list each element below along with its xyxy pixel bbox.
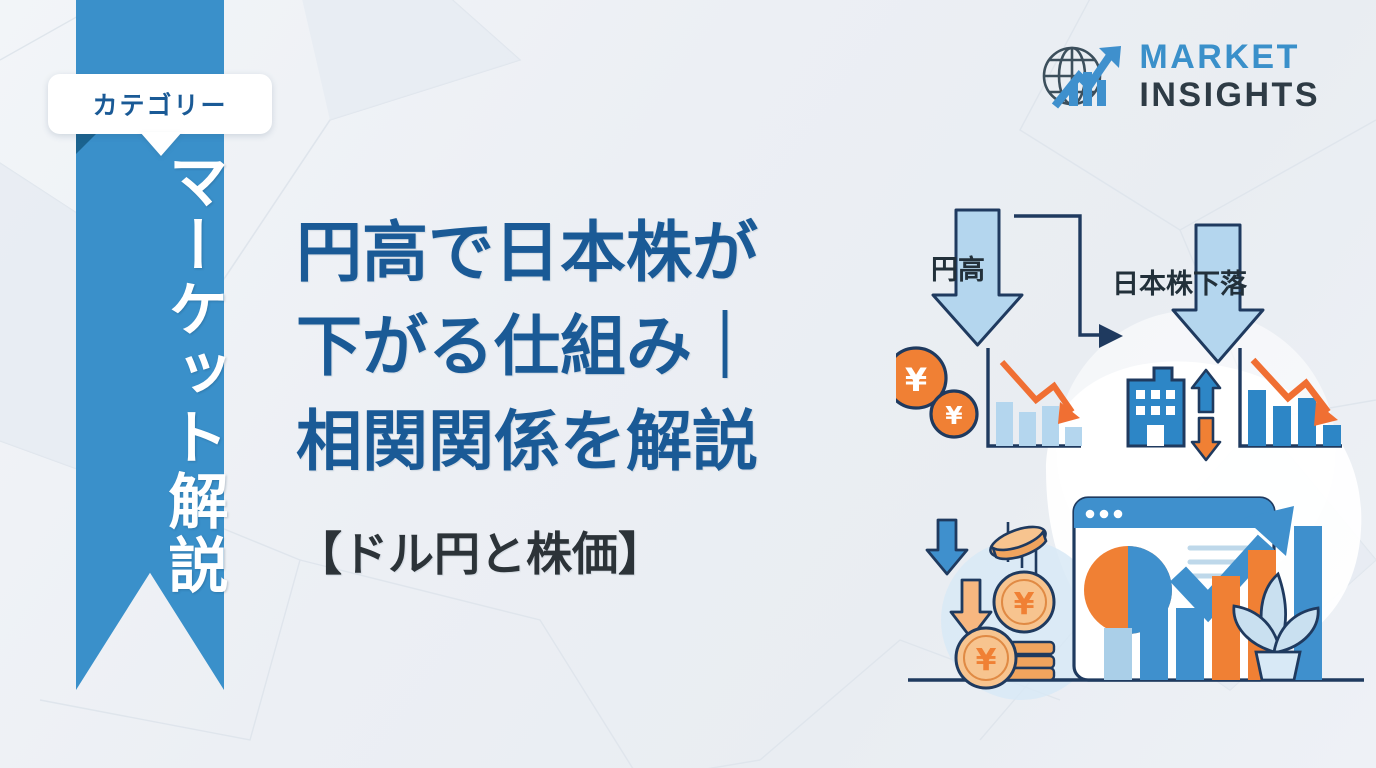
down-arrow-icon-3 [927,520,967,574]
diagram-label-stock-decline: 日本株下落 [1112,262,1247,301]
diagram-label-yen-appreciation: 円高 [931,248,985,287]
logo-wordmark: MARKET INSIGHTS [1139,40,1320,112]
globe-growth-chart-arrow-icon [1039,38,1125,114]
svg-text:¥: ¥ [945,401,963,430]
category-label-pill: カテゴリー [48,74,272,134]
title-line-3: 相関関係を解説 [296,395,896,489]
ribbon-fold-shadow [76,132,98,154]
flow-connector-line [1014,216,1103,335]
yen-coin-icon: ¥ ¥ [896,348,977,437]
title-line-2: 下がる仕組み｜ [296,300,896,394]
ribbon-category-vertical-text: マーケット解説 [76,150,224,598]
page-title: 円高で日本株が 下がる仕組み｜ 相関関係を解説 [296,206,896,489]
yen-coin-icon-2: ¥ [994,572,1054,632]
svg-text:¥: ¥ [905,361,927,399]
logo-line-market: MARKET [1139,40,1320,74]
office-building-icon [1128,368,1184,446]
brand-logo: MARKET INSIGHTS [1039,38,1320,114]
illustration-graphics: ¥ ¥ [896,150,1376,768]
category-pill-pointer-icon [140,132,182,156]
svg-text:¥: ¥ [1014,587,1035,622]
svg-text:¥: ¥ [976,643,997,678]
page-subtitle: 【ドル円と株価】 [296,518,664,584]
title-line-1: 円高で日本株が [296,206,896,300]
category-label-text: カテゴリー [92,86,227,122]
logo-line-insights: INSIGHTS [1139,78,1320,112]
concept-illustration: 円高 日本株下落 ¥ ¥ [896,150,1376,768]
